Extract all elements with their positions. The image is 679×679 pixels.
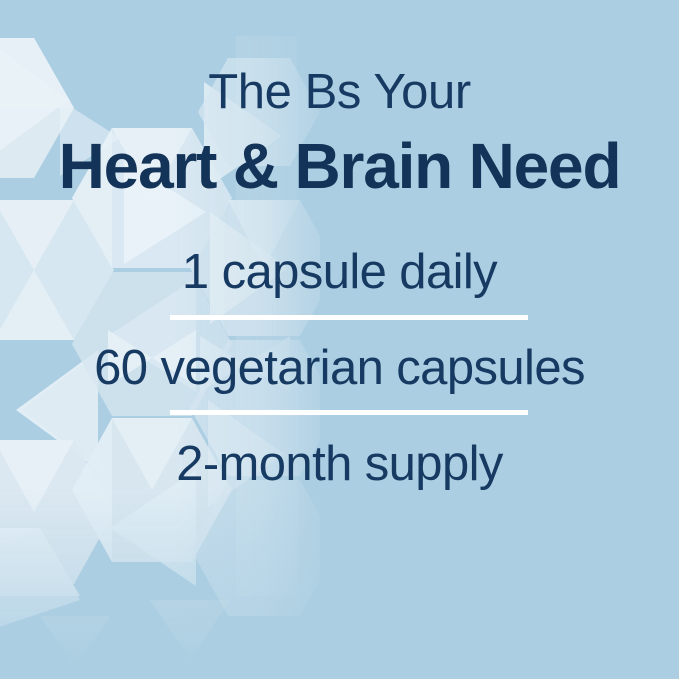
fact-count: 60 vegetarian capsules [0,344,679,394]
fact-dosage: 1 capsule daily [0,248,679,298]
divider-one [170,315,528,320]
fact-supply: 2-month supply [0,440,679,490]
eyebrow-text: The Bs Your [0,68,679,118]
divider-two [170,410,528,415]
content-stack: The Bs Your Heart & Brain Need 1 capsule… [0,0,679,679]
product-info-card: The Bs Your Heart & Brain Need 1 capsule… [0,0,679,679]
page-title: Heart & Brain Need [0,134,679,199]
